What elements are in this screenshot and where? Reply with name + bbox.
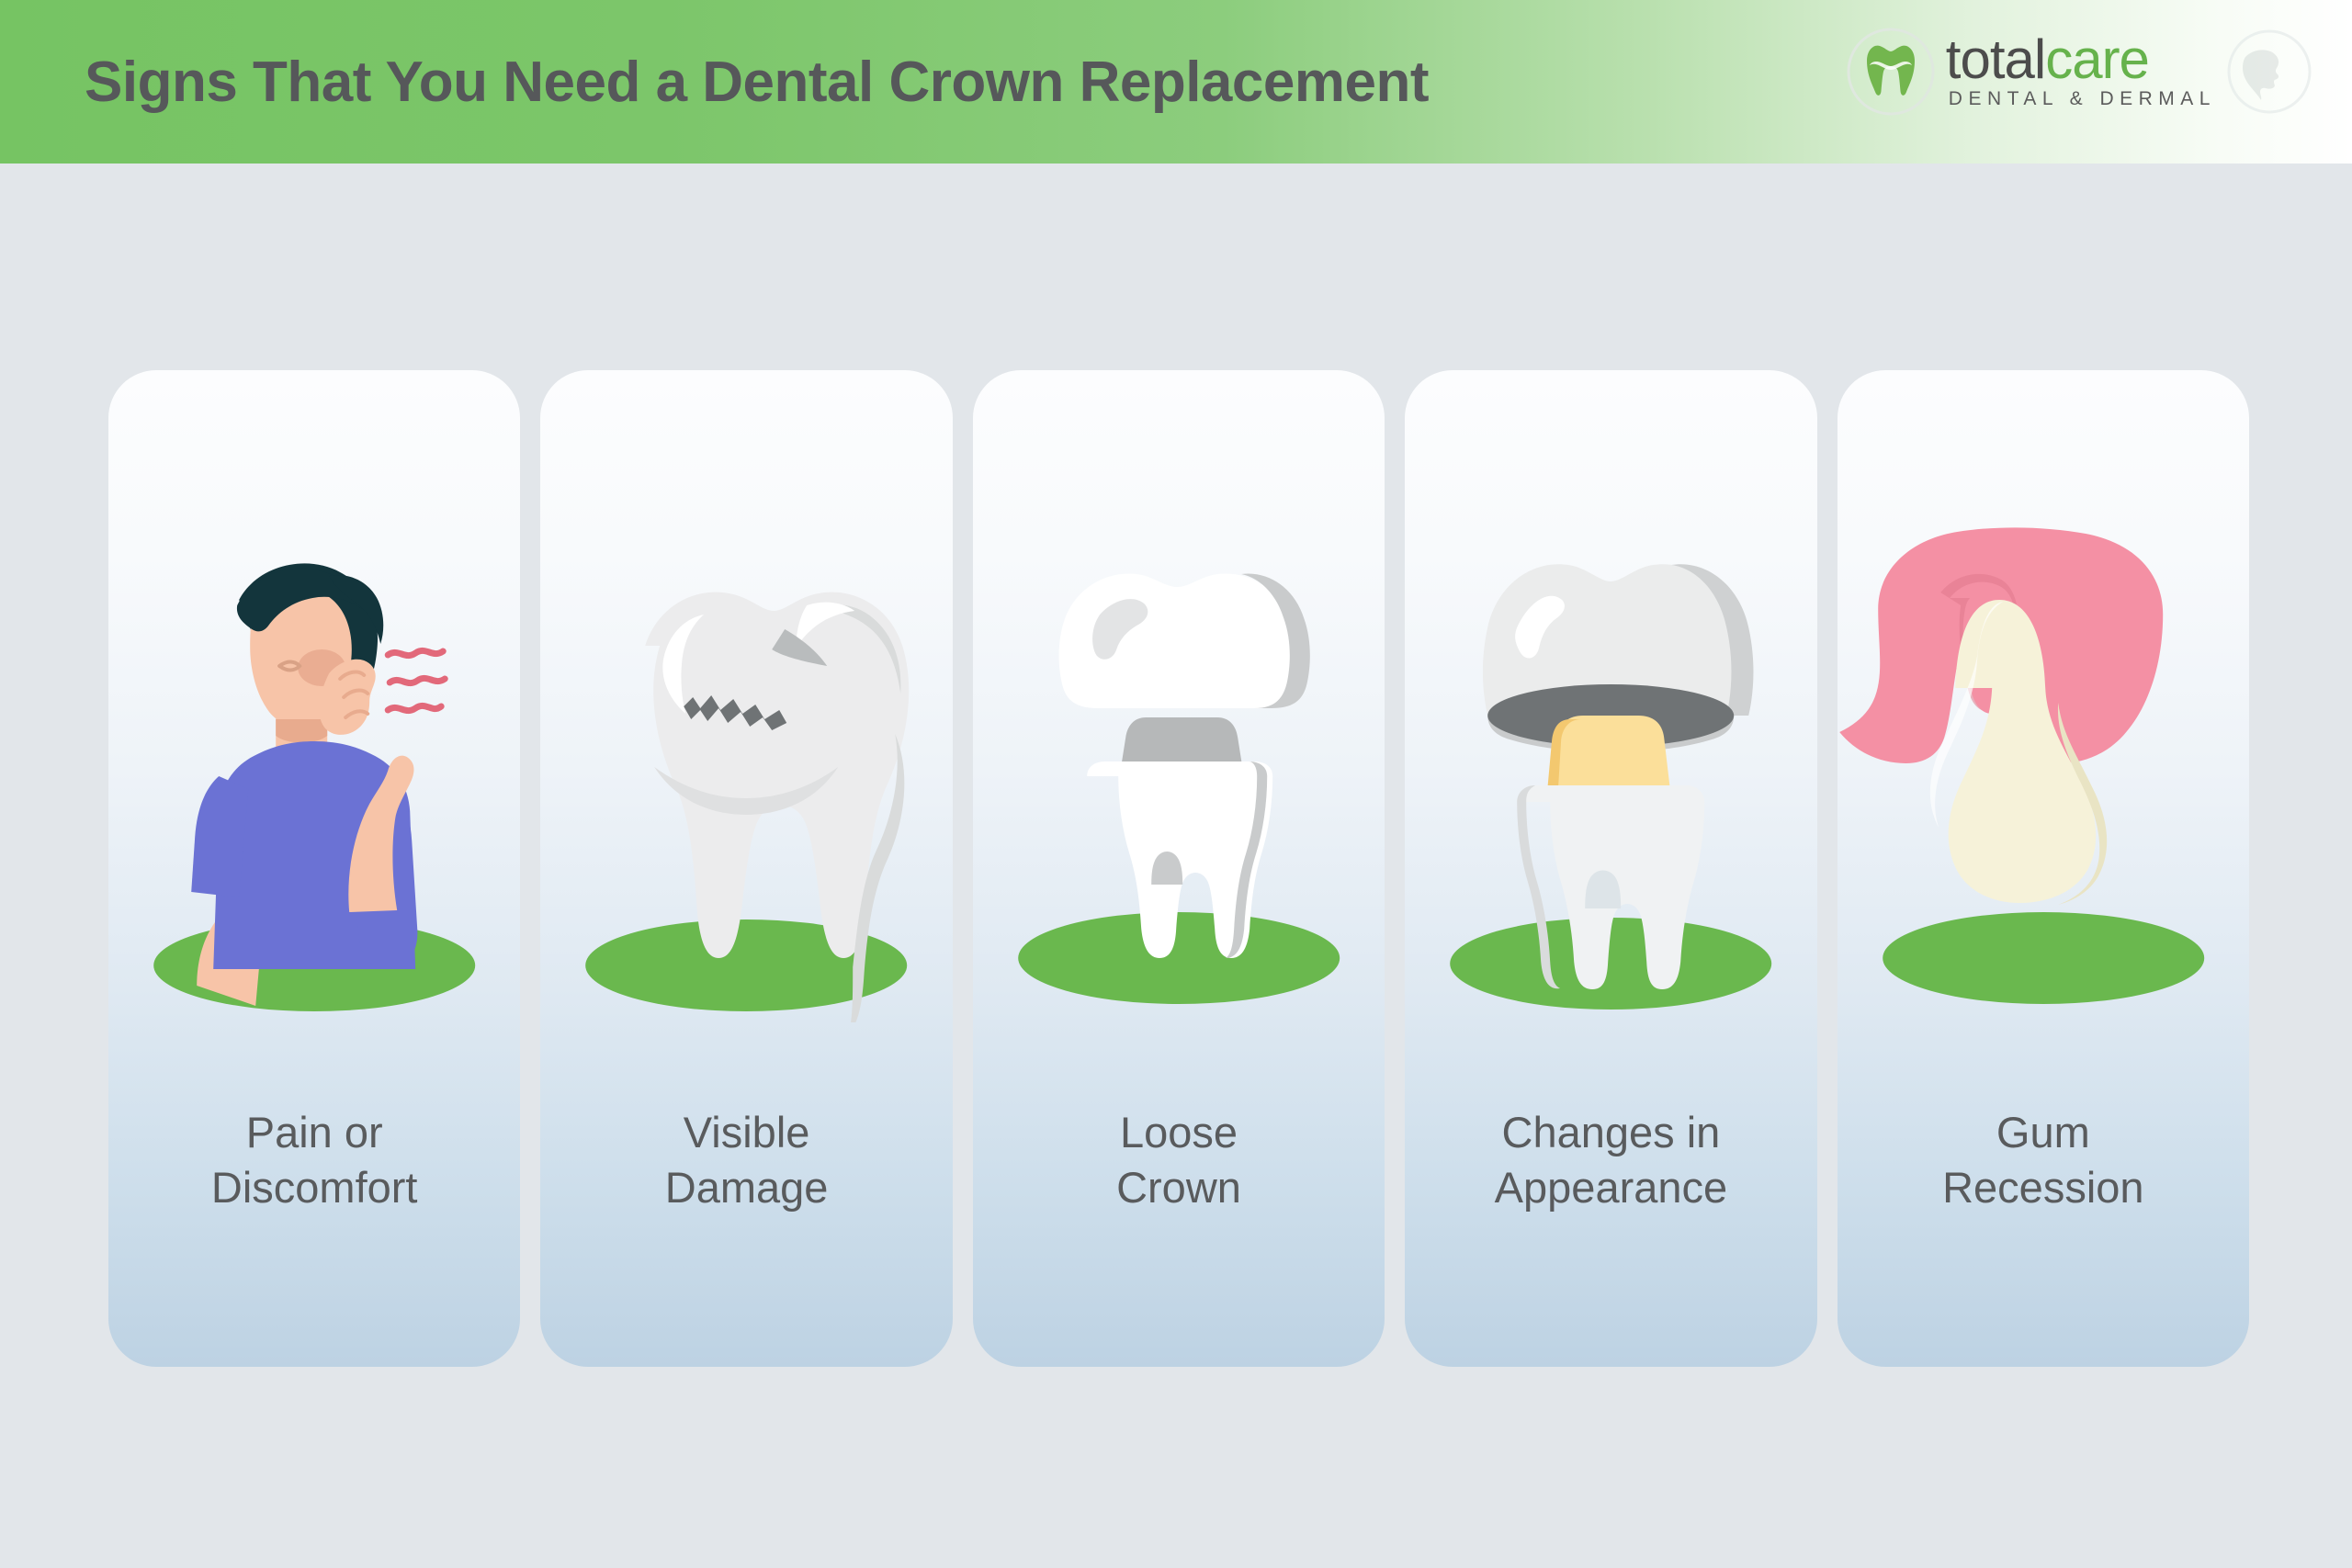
card-label-line2: Damage xyxy=(540,1160,952,1215)
man-holding-cheek-in-pain-illustration xyxy=(108,508,520,1022)
card-label-line1: Visible xyxy=(540,1105,952,1160)
receding-gum-exposed-root-illustration xyxy=(1837,508,2249,1022)
tooth-icon xyxy=(1839,20,1942,123)
card-label-line2: Recession xyxy=(1837,1160,2249,1215)
card-label-line1: Pain or xyxy=(108,1105,520,1160)
card-label: Gum Recession xyxy=(1837,1105,2249,1215)
card-changes-in-appearance[interactable]: Changes in Appearance xyxy=(1405,370,1816,1367)
cracked-molar-tooth-illustration xyxy=(540,508,952,1022)
card-label-line2: Discomfort xyxy=(108,1160,520,1215)
card-label: Visible Damage xyxy=(540,1105,952,1215)
page-title: Signs That You Need a Dental Crown Repla… xyxy=(85,50,1429,115)
logo-tagline: DENTAL & DERMAL xyxy=(1949,88,2216,110)
face-profile-icon xyxy=(2222,24,2317,119)
page-header: Signs That You Need a Dental Crown Repla… xyxy=(0,0,2352,164)
signs-card-row: Pain or Discomfort Visible Damage xyxy=(108,370,2249,1367)
crown-detached-from-tooth-illustration xyxy=(973,508,1385,1022)
card-loose-crown[interactable]: Loose Crown xyxy=(973,370,1385,1367)
card-label-line1: Loose xyxy=(973,1105,1385,1160)
brand-logo: totalcare DENTAL & DERMAL xyxy=(1839,17,2317,127)
card-label-line2: Appearance xyxy=(1405,1160,1816,1215)
logo-word-care: care xyxy=(2045,28,2149,90)
card-label: Loose Crown xyxy=(973,1105,1385,1215)
card-label-line1: Gum xyxy=(1837,1105,2249,1160)
card-label-line1: Changes in xyxy=(1405,1105,1816,1160)
card-label-line2: Crown xyxy=(973,1160,1385,1215)
card-label: Changes in Appearance xyxy=(1405,1105,1816,1215)
card-gum-recession[interactable]: Gum Recession xyxy=(1837,370,2249,1367)
card-visible-damage[interactable]: Visible Damage xyxy=(540,370,952,1367)
logo-word-total: total xyxy=(1946,28,2045,90)
card-label: Pain or Discomfort xyxy=(108,1105,520,1215)
crown-lifting-off-discolored-tooth-illustration xyxy=(1405,508,1816,1022)
card-pain-or-discomfort[interactable]: Pain or Discomfort xyxy=(108,370,520,1367)
logo-wordmark: totalcare DENTAL & DERMAL xyxy=(1946,33,2216,110)
